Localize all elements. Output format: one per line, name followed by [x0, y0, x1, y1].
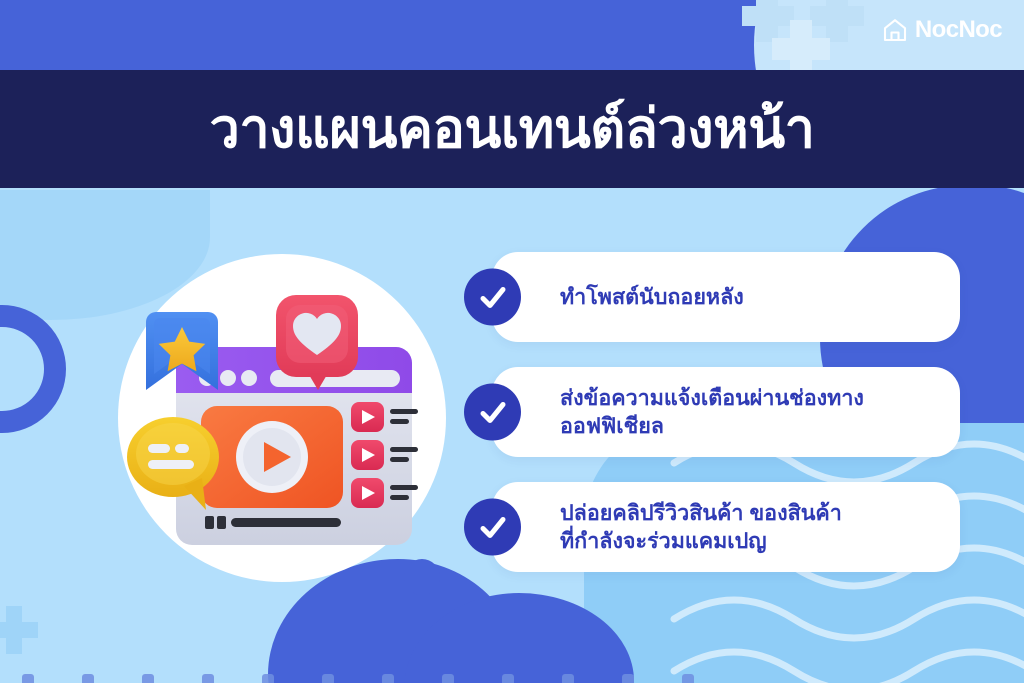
logo-text: NocNoc — [915, 16, 1002, 44]
header-blue-panel — [0, 0, 1024, 72]
video-player-card — [201, 406, 343, 508]
checklist-label: ส่งข้อความแจ้งเตือนผ่านช่องทาง ออฟฟิเชีย… — [560, 384, 864, 441]
checklist-line: ที่กำลังจะร่วมแคมเปญ — [560, 527, 842, 555]
plus-icon-bottom-left — [0, 600, 44, 660]
checklist-card[interactable]: ทำโพสต์นับถอยหลัง — [492, 252, 960, 342]
checklist-cards: ทำโพสต์นับถอยหลัง ส่งข้อความแจ้งเตือนผ่า… — [492, 252, 960, 572]
check-icon — [464, 269, 521, 326]
ring-decoration-left — [0, 305, 66, 433]
page-title: วางแผนคอนเทนต์ล่วงหน้า — [210, 102, 815, 156]
dots-row-bottom — [0, 669, 700, 683]
check-icon — [464, 499, 521, 556]
title-banner: วางแผนคอนเทนต์ล่วงหน้า — [0, 70, 1024, 188]
video-post-planning-illustration — [118, 254, 446, 584]
illustration-container — [118, 254, 446, 584]
checklist-line: ปล่อยคลิปรีวิวสินค้า ของสินค้า — [560, 499, 842, 527]
checklist-line: ทำโพสต์นับถอยหลัง — [560, 283, 744, 311]
infographic-canvas: NocNoc วางแผนคอนเทนต์ล่วงหน้า — [0, 0, 1024, 683]
checklist-label: ทำโพสต์นับถอยหลัง — [560, 283, 744, 311]
checklist-card[interactable]: ปล่อยคลิปรีวิวสินค้า ของสินค้า ที่กำลังจ… — [492, 482, 960, 572]
plus-icons-header — [742, 0, 882, 72]
checklist-card[interactable]: ส่งข้อความแจ้งเตือนผ่านช่องทาง ออฟฟิเชีย… — [492, 367, 960, 457]
checklist-line: ออฟฟิเชียล — [560, 412, 864, 440]
checklist-label: ปล่อยคลิปรีวิวสินค้า ของสินค้า ที่กำลังจ… — [560, 499, 842, 556]
check-icon — [464, 384, 521, 441]
checklist-line: ส่งข้อความแจ้งเตือนผ่านช่องทาง — [560, 384, 864, 412]
house-icon — [882, 17, 908, 43]
brand-logo[interactable]: NocNoc — [882, 16, 1002, 44]
